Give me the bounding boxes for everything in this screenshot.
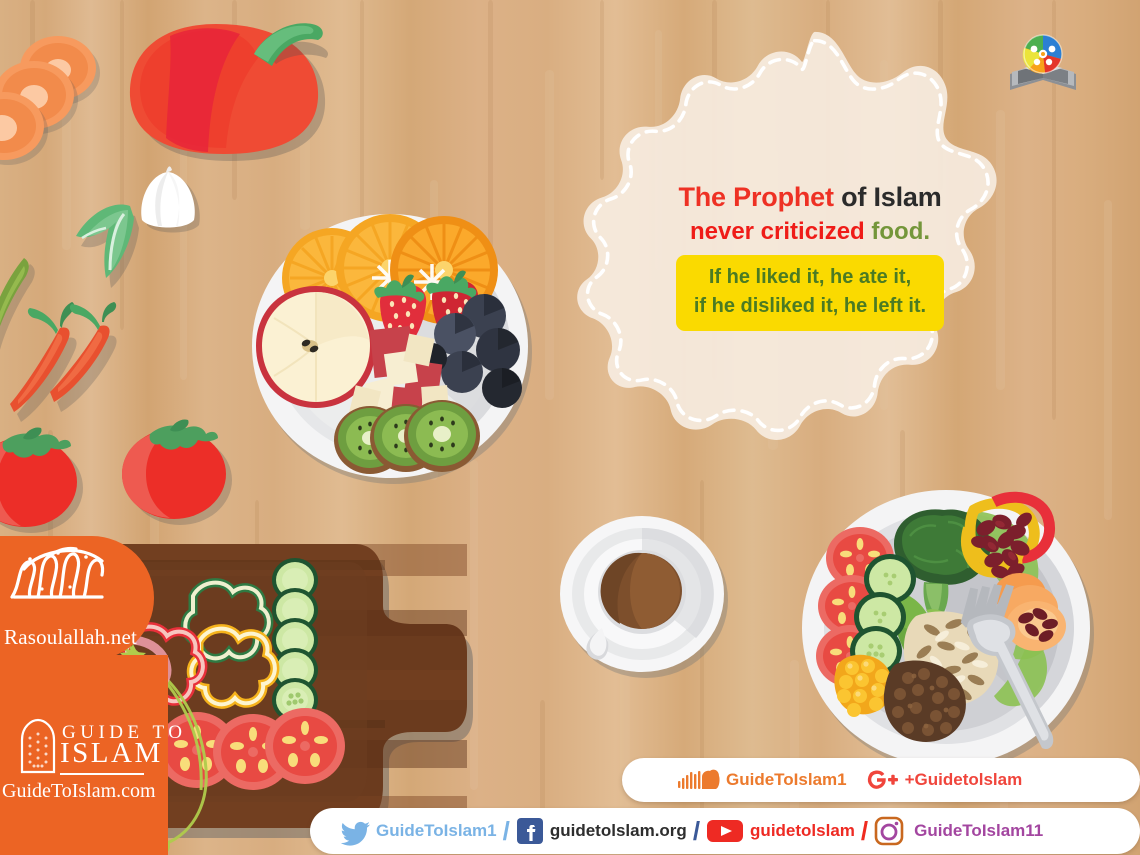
social-bar-primary[interactable]: GuideToIslam1 / guidetolslam.org / guide… (310, 808, 1140, 854)
rasoulallah-site-label: Rasoulallah.net (4, 625, 137, 650)
tomato-right (110, 398, 240, 528)
google-plus-icon[interactable] (863, 768, 899, 792)
soundcloud-handle[interactable]: GuideToIslam1 (726, 770, 847, 790)
social-item-google-plus[interactable]: +Guidetolslam (863, 768, 1023, 792)
social-item-facebook[interactable]: guidetolslam.org (516, 817, 687, 845)
social-item-twitter[interactable]: GuideToIslam1 (338, 818, 497, 844)
guide-to-islam-arch-icon (18, 718, 58, 774)
quote-highlight-box: If he liked it, he ate it, if he dislike… (676, 255, 944, 331)
facebook-handle[interactable]: guidetolslam.org (550, 821, 687, 841)
carrot-slices (0, 20, 116, 170)
poster-canvas: The Prophet of Islam never criticized fo… (0, 0, 1140, 855)
rasoulallah-arabic-calligraphy (6, 545, 116, 605)
quote-line1-part1: The Prophet (678, 182, 833, 212)
coffee-cup (556, 512, 732, 682)
guide-to-islam-rule (60, 773, 144, 775)
cucumber-slices-board (272, 558, 318, 722)
fruit-plate (246, 206, 536, 486)
tomato-slices-board (157, 708, 345, 790)
google-plus-handle[interactable]: +Guidetolslam (905, 770, 1023, 790)
quote-block: The Prophet of Islam never criticized fo… (600, 182, 1020, 331)
social-bar-secondary[interactable]: GuideToIslam1 +Guidetolslam (622, 758, 1140, 802)
guide-to-islam-word-islam: ISLAM (60, 740, 163, 768)
guide-to-islam-logo-icon[interactable] (1004, 28, 1082, 98)
instagram-handle[interactable]: GuideToIslam11 (914, 821, 1043, 841)
social-item-youtube[interactable]: guidetolslam (706, 818, 855, 844)
social-item-soundcloud[interactable]: GuideToIslam1 (678, 769, 847, 791)
quote-highlight-line-2: if he disliked it, he left it. (694, 292, 926, 321)
separator-3: / (861, 818, 868, 844)
soundcloud-icon[interactable] (678, 769, 720, 791)
red-bell-pepper (110, 6, 340, 166)
quote-line1-part2: of Islam (834, 182, 942, 212)
separator-2: / (693, 818, 700, 844)
quote-line2-part2: food. (865, 218, 930, 245)
social-item-instagram[interactable]: GuideToIslam11 (874, 816, 1043, 846)
quote-line-2: never criticized food. (600, 218, 1020, 246)
youtube-handle[interactable]: guidetolslam (750, 821, 855, 841)
twitter-handle[interactable]: GuideToIslam1 (376, 821, 497, 841)
salad-plate (798, 484, 1098, 774)
facebook-icon[interactable] (516, 817, 544, 845)
instagram-icon[interactable] (874, 816, 904, 846)
quote-highlight-line-1: If he liked it, he ate it, (694, 263, 926, 292)
tomato-left (0, 408, 95, 538)
separator-1: / (503, 818, 510, 844)
green-leaves (58, 182, 188, 312)
kiwi-slices (334, 400, 480, 474)
youtube-icon[interactable] (706, 818, 744, 844)
quote-line-1: The Prophet of Islam (600, 182, 1020, 212)
twitter-icon[interactable] (338, 818, 370, 844)
quote-line2-part1: never criticized (690, 218, 865, 245)
guide-to-islam-site-label: GuideToIslam.com (2, 780, 156, 803)
